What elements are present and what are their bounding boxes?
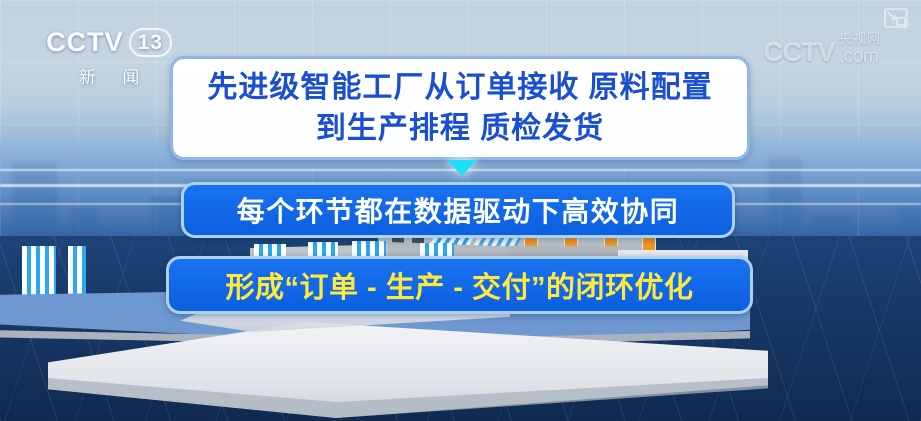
watermark-chinese-text: 央视网	[839, 32, 881, 45]
headline-line-1: 每个环节都在数据驱动下高效协同	[237, 190, 680, 230]
watermark-right-block: 央视网 .com	[839, 32, 881, 66]
channel-name: 新 闻	[44, 63, 174, 88]
triangle-down-icon	[447, 160, 477, 176]
picture-in-picture-icon[interactable]	[884, 8, 908, 28]
headline-line-1: 先进级智能工厂从订单接收 原料配置	[207, 67, 712, 108]
headline-banner-primary: 先进级智能工厂从订单接收 原料配置 到生产排程 质检发货	[170, 56, 750, 160]
facade-stripes	[68, 246, 86, 296]
watermark-com-text: .com	[839, 47, 881, 66]
headline-line-2: 到生产排程 质检发货	[316, 108, 604, 149]
channel-number: 13	[129, 28, 172, 57]
cctv-wordmark: CCTV	[46, 29, 124, 56]
cctv-channel-logo: CCTV 13 新 闻	[44, 28, 174, 88]
headline-banner-secondary: 每个环节都在数据驱动下高效协同	[181, 182, 735, 238]
headline-line-1: 形成“订单 - 生产 - 交付”的闭环优化	[225, 264, 693, 306]
headline-banner-tertiary: 形成“订单 - 生产 - 交付”的闭环优化	[166, 256, 753, 314]
broadcast-screen: CCTV 13 新 闻 CCTV 央视网 .com 先进级智能工厂从订单接收 原…	[0, 0, 921, 421]
cctv-com-watermark: CCTV 央视网 .com	[763, 32, 881, 66]
cctv-logo-row: CCTV 13	[44, 28, 174, 57]
watermark-cctv-text: CCTV	[763, 39, 835, 66]
facade-stripes	[22, 246, 56, 296]
